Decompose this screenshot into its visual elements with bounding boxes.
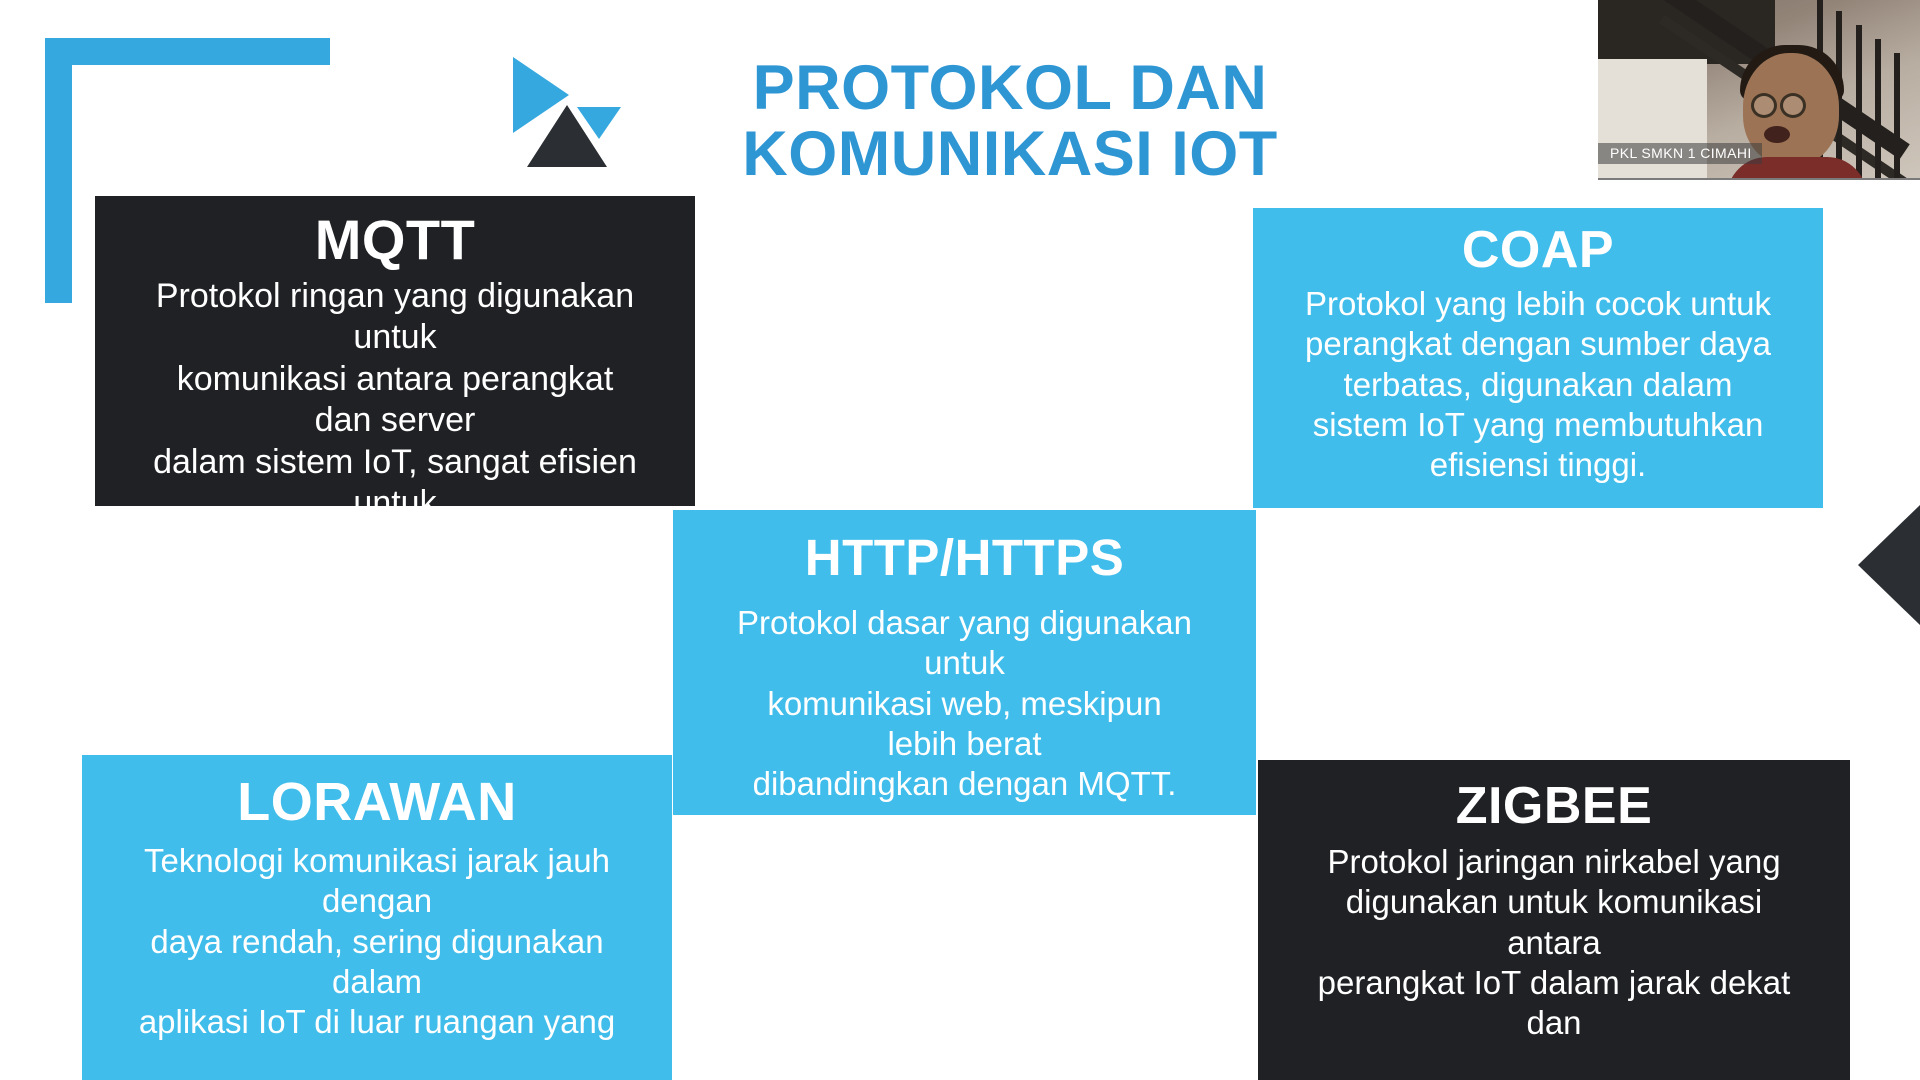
card-http-line-2: untuk: [691, 643, 1238, 683]
card-mqtt-line-6: untuk: [113, 483, 677, 506]
webcam-glasses-left-lens: [1751, 93, 1777, 118]
card-mqtt-body: Protokol ringan yang digunakan untuk kom…: [113, 276, 677, 506]
card-lorawan-line-4: dalam: [100, 962, 654, 1002]
card-http-line-4: lebih berat: [691, 724, 1238, 764]
card-coap-line-2: perangkat dengan sumber daya: [1271, 324, 1805, 364]
presentation-slide: PROTOKOL DAN KOMUNIKASI IOT MQTT Protoko…: [0, 0, 1920, 1080]
card-zigbee-line-3: antara: [1276, 923, 1832, 963]
card-mqtt-line-4: dan server: [113, 400, 677, 441]
card-http-https-title: HTTP/HTTPS: [691, 532, 1238, 583]
card-lorawan: LORAWAN Teknologi komunikasi jarak jauh …: [82, 755, 672, 1080]
card-mqtt-line-3: komunikasi antara perangkat: [113, 359, 677, 400]
card-coap-title: COAP: [1271, 224, 1805, 276]
card-lorawan-line-5: aplikasi IoT di luar ruangan yang: [100, 1002, 654, 1042]
card-zigbee-body: Protokol jaringan nirkabel yang digunaka…: [1276, 842, 1832, 1043]
card-http-line-3: komunikasi web, meskipun: [691, 684, 1238, 724]
card-http-line-5: dibandingkan dengan MQTT.: [691, 764, 1238, 804]
card-lorawan-body: Teknologi komunikasi jarak jauh dengan d…: [100, 841, 654, 1042]
card-mqtt: MQTT Protokol ringan yang digunakan untu…: [95, 196, 695, 506]
webcam-baluster-4: [1894, 53, 1900, 178]
card-zigbee: ZIGBEE Protokol jaringan nirkabel yang d…: [1258, 760, 1850, 1080]
card-zigbee-line-1: Protokol jaringan nirkabel yang: [1276, 842, 1832, 882]
card-mqtt-title: MQTT: [113, 212, 677, 268]
logo-mark: [505, 55, 635, 175]
webcam-baluster-2: [1856, 25, 1862, 178]
triangle-up-icon: [527, 105, 607, 167]
card-zigbee-line-5: dan: [1276, 1003, 1832, 1043]
card-http-https: HTTP/HTTPS Protokol dasar yang digunakan…: [673, 510, 1256, 815]
card-mqtt-line-1: Protokol ringan yang digunakan: [113, 276, 677, 317]
webcam-participant-label: PKL SMKN 1 CIMAHI: [1598, 143, 1762, 164]
card-lorawan-line-2: dengan: [100, 881, 654, 921]
card-coap-line-1: Protokol yang lebih cocok untuk: [1271, 284, 1805, 324]
title-line-1: PROTOKOL DAN: [640, 55, 1380, 121]
webcam-overlay[interactable]: PKL SMKN 1 CIMAHI: [1598, 0, 1920, 180]
card-zigbee-line-2: digunakan untuk komunikasi: [1276, 882, 1832, 922]
card-lorawan-line-1: Teknologi komunikasi jarak jauh: [100, 841, 654, 881]
card-lorawan-line-3: daya rendah, sering digunakan: [100, 922, 654, 962]
title-line-2: KOMUNIKASI IOT: [640, 121, 1380, 187]
card-mqtt-line-2: untuk: [113, 317, 677, 358]
card-coap: COAP Protokol yang lebih cocok untuk per…: [1253, 208, 1823, 508]
card-coap-line-4: sistem IoT yang membutuhkan: [1271, 405, 1805, 445]
card-http-line-1: Protokol dasar yang digunakan: [691, 603, 1238, 643]
webcam-baluster-3: [1875, 39, 1881, 178]
card-mqtt-line-5: dalam sistem IoT, sangat efisien: [113, 442, 677, 483]
page-title: PROTOKOL DAN KOMUNIKASI IOT: [640, 55, 1380, 187]
edge-arrow-decoration: [1858, 505, 1920, 625]
card-coap-line-5: efisiensi tinggi.: [1271, 445, 1805, 485]
bracket-vertical-bar: [45, 38, 72, 303]
webcam-glasses-right-lens: [1780, 93, 1806, 118]
card-coap-body: Protokol yang lebih cocok untuk perangka…: [1271, 284, 1805, 485]
card-zigbee-title: ZIGBEE: [1276, 780, 1832, 832]
card-http-https-body: Protokol dasar yang digunakan untuk komu…: [691, 603, 1238, 804]
bracket-horizontal-bar: [45, 38, 330, 65]
card-zigbee-line-4: perangkat IoT dalam jarak dekat: [1276, 963, 1832, 1003]
card-coap-line-3: terbatas, digunakan dalam: [1271, 365, 1805, 405]
card-lorawan-title: LORAWAN: [100, 775, 654, 829]
